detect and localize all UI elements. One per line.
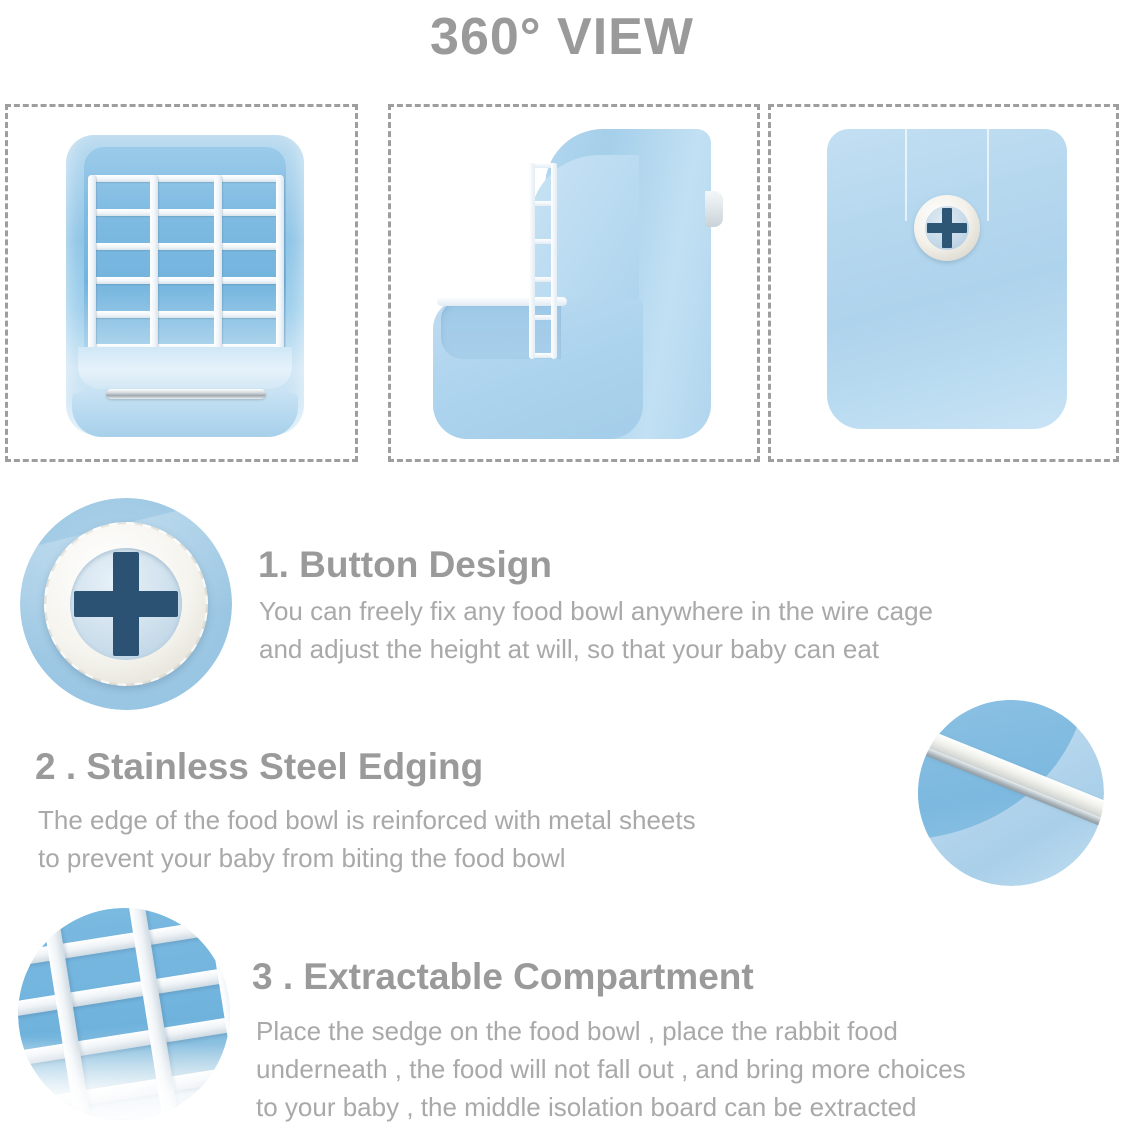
button-ring xyxy=(44,522,208,686)
feature-3-body-line-2: underneath , the food will not fall out … xyxy=(256,1050,966,1088)
product-infographic: 360° VIEW xyxy=(0,0,1124,1130)
view-panel-front xyxy=(5,104,358,462)
feature-3-heading: 3 . Extractable Compartment xyxy=(252,955,754,999)
wire-grid-side xyxy=(529,163,557,359)
back-view-image xyxy=(771,107,1116,459)
feature-1-image xyxy=(20,498,232,710)
view-panel-back xyxy=(768,104,1119,462)
button-face xyxy=(70,548,182,660)
feature-2-body-line-2: to prevent your baby from biting the foo… xyxy=(38,839,696,877)
feature-1-body: You can freely fix any food bowl anywher… xyxy=(259,592,933,668)
feature-3-body: Place the sedge on the food bowl , place… xyxy=(256,1012,966,1126)
mounting-button xyxy=(914,195,980,261)
bowl-base xyxy=(72,393,298,437)
feature-2-body: The edge of the food bowl is reinforced … xyxy=(38,801,696,877)
feature-3-body-line-3: to your baby , the middle isolation boar… xyxy=(256,1088,966,1126)
feature-1-heading: 1. Button Design xyxy=(258,543,552,587)
wire-grid xyxy=(88,175,284,351)
product-back-body xyxy=(827,129,1067,429)
feature-2-image xyxy=(918,700,1104,886)
feature-2-heading: 2 . Stainless Steel Edging xyxy=(35,745,483,789)
cross-icon-vertical xyxy=(113,552,139,656)
cross-icon-vertical xyxy=(942,208,952,248)
product-front-body xyxy=(66,135,304,435)
isolation-board-lip xyxy=(78,347,292,389)
button-inner xyxy=(925,206,969,250)
front-view-image xyxy=(8,107,355,459)
side-knob xyxy=(705,191,723,227)
feature-3-image xyxy=(18,908,230,1120)
view-panel-side xyxy=(388,104,760,462)
feature-3-body-line-1: Place the sedge on the food bowl , place… xyxy=(256,1012,966,1050)
feature-2-body-line-1: The edge of the food bowl is reinforced … xyxy=(38,801,696,839)
feature-1-body-line-1: You can freely fix any food bowl anywher… xyxy=(259,592,933,630)
view-panel-row xyxy=(5,104,1119,462)
side-view-image xyxy=(391,107,757,459)
steel-edging-strip xyxy=(106,389,266,399)
page-title: 360° VIEW xyxy=(0,2,1124,72)
product-side-body xyxy=(433,129,723,439)
feature-1-body-line-2: and adjust the height at will, so that y… xyxy=(259,630,933,668)
